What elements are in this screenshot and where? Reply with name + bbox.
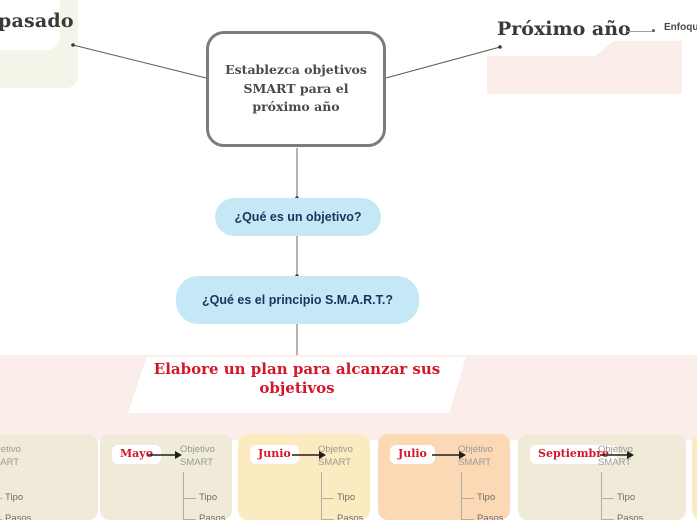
month-card[interactable] — [692, 434, 697, 520]
subtree-trunk — [601, 472, 602, 520]
subtree-branch — [601, 498, 614, 499]
subtree-leaf[interactable]: Tipo — [337, 492, 355, 503]
objetivo-smart-label: ObjetivoSMART — [180, 444, 215, 470]
objetivo-smart-label: ObjetivoSMART — [318, 444, 353, 470]
subtree-branch — [183, 498, 196, 499]
objetivo-smart-line-1: Objetivo — [458, 444, 493, 455]
center-node-text: Establezca objetivos SMART para el próxi… — [225, 61, 367, 117]
subtree-trunk — [321, 472, 322, 520]
subtree-branch — [0, 498, 2, 499]
node-que-es-principio-smart[interactable]: ¿Qué es el principio S.M.A.R.T.? — [176, 276, 419, 324]
center-node[interactable]: Establezca objetivos SMART para el próxi… — [206, 31, 386, 147]
subtree-leaf[interactable]: Tipo — [477, 492, 495, 503]
node-que-es-un-objetivo[interactable]: ¿Qué es un objetivo? — [215, 198, 381, 236]
objetivo-smart-line-2: SMART — [318, 457, 351, 468]
objetivo-smart-line-1: Objetivo — [180, 444, 215, 455]
objetivo-smart-line-1: Objetivo — [0, 444, 21, 455]
proximo-ano-label: Próximo año — [497, 18, 631, 40]
subtree-leaf[interactable]: Pasos — [337, 513, 363, 520]
month-card[interactable]: JunioObjetivoSMARTTipoPasos — [238, 434, 370, 520]
enfoque-node[interactable]: Enfoqu — [655, 18, 697, 38]
ano-pasado-label: pasado — [0, 10, 74, 32]
subtree-leaf[interactable]: Tipo — [5, 492, 23, 503]
center-node-line-3: próximo año — [252, 99, 339, 114]
objetivo-smart-label: ObjetivoSMART — [598, 444, 633, 470]
plan-banner-line-1: Elabore un plan para alcanzar sus — [154, 360, 440, 378]
subtree-branch — [461, 498, 474, 499]
subtree-trunk — [183, 472, 184, 520]
month-cards-row: ObjetivoSMARTTipoPasosMayoObjetivoSMARTT… — [0, 434, 697, 520]
objetivo-smart-line-2: SMART — [458, 457, 491, 468]
month-card[interactable]: MayoObjetivoSMARTTipoPasos — [100, 434, 232, 520]
mindmap-canvas: pasado Próximo año Enfoqu Establezca obj… — [0, 0, 697, 520]
center-node-line-2: SMART para el — [244, 81, 349, 96]
month-to-objective-arrow — [148, 448, 182, 462]
objetivo-smart-line-1: Objetivo — [318, 444, 353, 455]
subtree-leaf[interactable]: Tipo — [199, 492, 217, 503]
objetivo-smart-line-2: SMART — [0, 457, 19, 468]
objetivo-smart-label: ObjetivoSMART — [458, 444, 493, 470]
subtree-leaf[interactable]: Tipo — [617, 492, 635, 503]
month-card[interactable]: ObjetivoSMARTTipoPasos — [0, 434, 98, 520]
subtree-trunk — [461, 472, 462, 520]
subtree-leaf[interactable]: Pasos — [199, 513, 225, 520]
subtree-leaf[interactable]: Pasos — [477, 513, 503, 520]
enfoque-connector — [627, 31, 655, 32]
subtree-branch — [321, 498, 334, 499]
objetivo-smart-line-2: SMART — [598, 457, 631, 468]
objetivo-smart-line-2: SMART — [180, 457, 213, 468]
objetivo-smart-line-1: Objetivo — [598, 444, 633, 455]
plan-banner-line-2: objetivos — [259, 379, 334, 397]
plan-banner-text[interactable]: Elabore un plan para alcanzar sus objeti… — [128, 360, 466, 398]
month-label-pill[interactable]: Julio — [390, 445, 435, 464]
month-card[interactable]: SeptiembreObjetivoSMARTTipoPasos — [518, 434, 686, 520]
center-node-line-1: Establezca objetivos — [225, 62, 367, 77]
objetivo-smart-label: ObjetivoSMART — [0, 444, 21, 470]
subtree-leaf[interactable]: Pasos — [5, 513, 31, 520]
month-card[interactable]: JulioObjetivoSMARTTipoPasos — [378, 434, 510, 520]
subtree-leaf[interactable]: Pasos — [617, 513, 643, 520]
